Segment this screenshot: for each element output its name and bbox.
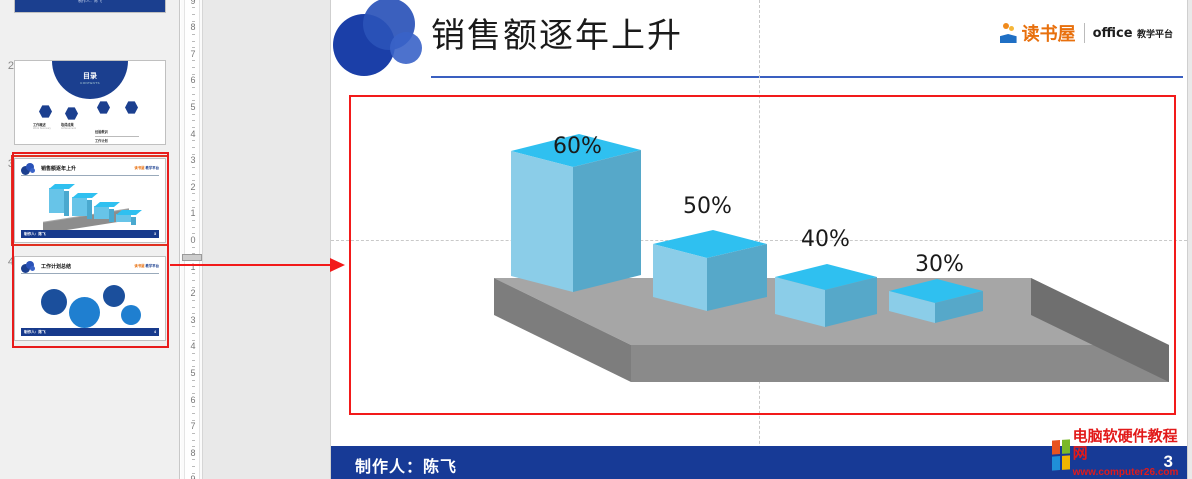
ruler-minor-tick bbox=[192, 220, 195, 221]
ruler-minor-tick bbox=[192, 200, 195, 201]
thumbnail-logo-tag: 教学平台 bbox=[145, 264, 159, 268]
thumbnail-slide-4-title: 工作计划总结 bbox=[41, 263, 71, 270]
ruler-tick-3: 3 bbox=[185, 155, 201, 165]
thumbnail-slide-2-subtitle: CONTENTS bbox=[15, 81, 165, 85]
ruler-tick-1: 1 bbox=[185, 208, 201, 218]
ruler-minor-tick bbox=[192, 60, 195, 61]
ruler-tick-5: 5 bbox=[185, 102, 201, 112]
mini-bar-4 bbox=[116, 214, 131, 222]
contents-rule-1 bbox=[95, 136, 139, 137]
ruler-tick-5: 5 bbox=[185, 368, 201, 378]
ruler-minor-tick bbox=[192, 466, 195, 467]
ruler-minor-tick bbox=[192, 7, 195, 8]
thumbnail-slide-1-canvas[interactable]: 四季度会议总结 制作人：陈飞 bbox=[14, 0, 166, 13]
slide-title[interactable]: 销售额逐年上升 bbox=[431, 8, 683, 57]
ruler-tick-9: 9 bbox=[185, 474, 201, 479]
watermark-site-name: 电脑软硬件教程网 bbox=[1073, 428, 1178, 462]
mini-bar-3 bbox=[94, 206, 109, 219]
ruler-minor-tick bbox=[192, 174, 195, 175]
thumbnail-slide-2[interactable]: 2 目录 CONTENTS 工作概述 Work Summary 取得成果 Ach… bbox=[14, 60, 166, 145]
gear-icon-4 bbox=[121, 305, 141, 325]
ruler-minor-tick bbox=[192, 386, 195, 387]
ruler-minor-tick bbox=[192, 300, 195, 301]
thumbnail-number-3: 3 bbox=[2, 158, 14, 170]
thumbnail-slide-4-footer: 4 制作人：陈飞 bbox=[21, 328, 159, 336]
brand-divider bbox=[1084, 23, 1085, 43]
contents-label-3: 经验教训 bbox=[95, 129, 108, 134]
ruler-minor-tick bbox=[192, 360, 195, 361]
title-circles-icon bbox=[21, 163, 37, 176]
ruler-tick-4: 4 bbox=[185, 341, 201, 351]
ruler-tick-0: 0 bbox=[185, 235, 201, 245]
ruler-minor-tick bbox=[192, 120, 195, 121]
brand-tagline: office 教学平台 bbox=[1093, 25, 1173, 42]
thumbnail-slide-4-logo: 读书屋 教学平台 bbox=[134, 263, 159, 268]
ruler-minor-tick bbox=[192, 433, 195, 434]
thumbnail-number-2: 2 bbox=[2, 60, 14, 72]
active-slide[interactable]: 销售额逐年上升 读书屋 office 教学平台 bbox=[331, 0, 1187, 479]
thumbnail-slide-4-canvas[interactable]: 工作计划总结 读书屋 教学平台 4 制作人：陈飞 bbox=[14, 256, 166, 341]
ruler-minor-tick bbox=[192, 459, 195, 460]
ruler-minor-tick bbox=[192, 326, 195, 327]
title-circles-icon bbox=[21, 261, 37, 274]
contents-label-4-text: 工作计划 bbox=[95, 139, 108, 143]
thumbnail-slide-3-canvas[interactable]: 销售额逐年上升 读书屋 教学平台 3 制作人：陈飞 bbox=[14, 158, 166, 243]
thumbnail-slide-4[interactable]: 4 工作计划总结 读书屋 教学平台 4 制作人：陈飞 bbox=[14, 256, 166, 341]
ruler-tick-4: 4 bbox=[185, 129, 201, 139]
thumbnail-slide-3-footer: 3 制作人：陈飞 bbox=[21, 230, 159, 238]
slide-canvas-area[interactable]: 销售额逐年上升 读书屋 office 教学平台 bbox=[203, 0, 1192, 479]
ruler-minor-tick bbox=[192, 380, 195, 381]
ruler-tick-2: 2 bbox=[185, 288, 201, 298]
thumbnail-slide-3-title: 销售额逐年上升 bbox=[41, 165, 76, 172]
brand-logo: 读书屋 office 教学平台 bbox=[1000, 20, 1173, 46]
mini-bar-1 bbox=[49, 188, 64, 213]
ruler-minor-tick bbox=[192, 353, 195, 354]
thumbnail-logo-name: 读书屋 bbox=[134, 166, 144, 170]
gear-icon-2 bbox=[69, 297, 100, 328]
thumbnail-logo-name: 读书屋 bbox=[134, 264, 144, 268]
contents-label-4: 工作计划 bbox=[95, 138, 108, 143]
ruler-tick-3: 3 bbox=[185, 315, 201, 325]
mini-bar-2 bbox=[72, 197, 87, 216]
ruler-minor-tick bbox=[192, 333, 195, 334]
ruler-minor-tick bbox=[192, 94, 195, 95]
ruler-minor-tick bbox=[192, 114, 195, 115]
thumbnail-slide-1[interactable]: 四季度会议总结 制作人：陈飞 bbox=[14, 0, 166, 13]
thumbnail-slide-3[interactable]: 3 销售额逐年上升 读书屋 教学平台 bbox=[14, 158, 166, 243]
ruler-minor-tick bbox=[192, 193, 195, 194]
ruler-tick-7: 7 bbox=[185, 49, 201, 59]
ruler-tick-8: 8 bbox=[185, 22, 201, 32]
ruler-track: 9876543210123456789 bbox=[184, 0, 200, 479]
thumbnail-slide-3-footer-text: 制作人：陈飞 bbox=[24, 232, 46, 236]
brand-tagline-top: office bbox=[1093, 26, 1133, 41]
ruler-tick-2: 2 bbox=[185, 182, 201, 192]
contents-label-3-text: 经验教训 bbox=[95, 130, 108, 134]
watermark-text: 电脑软硬件教程网 www.computer26.com bbox=[1073, 429, 1192, 479]
contents-hex-2 bbox=[65, 107, 78, 120]
content-placeholder-outline[interactable] bbox=[349, 95, 1176, 415]
ruler-tick-8: 8 bbox=[185, 448, 201, 458]
ruler-minor-tick bbox=[192, 227, 195, 228]
ruler-minor-tick bbox=[192, 14, 195, 15]
contents-label-1: 工作概述 Work Summary bbox=[33, 122, 51, 130]
site-watermark: 电脑软硬件教程网 www.computer26.com bbox=[1052, 433, 1192, 476]
ruler-minor-tick bbox=[192, 67, 195, 68]
contents-label-1-sub: Work Summary bbox=[33, 127, 51, 130]
windows-logo-icon bbox=[1052, 439, 1070, 470]
contents-hex-1 bbox=[39, 105, 52, 118]
ruler-minor-tick bbox=[192, 307, 195, 308]
ruler-tick-9: 9 bbox=[185, 0, 201, 6]
thumbnail-slide-3-logo: 读书屋 教学平台 bbox=[134, 165, 159, 170]
ruler-minor-tick bbox=[192, 440, 195, 441]
ruler-minor-tick bbox=[192, 87, 195, 88]
contents-label-2-sub: Achievement bbox=[61, 127, 76, 130]
ruler-minor-tick bbox=[192, 413, 195, 414]
ruler-tick-7: 7 bbox=[185, 421, 201, 431]
ruler-minor-tick bbox=[192, 167, 195, 168]
thumbnail-number-4: 4 bbox=[2, 256, 14, 268]
thumbnail-slide-1-subtitle: 制作人：陈飞 bbox=[15, 0, 165, 4]
ruler-minor-tick bbox=[192, 147, 195, 148]
thumbnail-slide-2-title: 目录 bbox=[15, 71, 165, 81]
ruler-minor-tick bbox=[192, 140, 195, 141]
thumbnail-slide-4-header: 工作计划总结 读书屋 教学平台 bbox=[21, 262, 159, 274]
thumbnail-slide-3-header: 销售额逐年上升 读书屋 教学平台 bbox=[21, 164, 159, 176]
thumbnail-mini-chart bbox=[39, 185, 145, 229]
title-decoration-circles-icon bbox=[333, 0, 438, 84]
brand-name: 读书屋 bbox=[1022, 20, 1076, 46]
contents-hex-4 bbox=[125, 101, 138, 114]
ruler-tick-6: 6 bbox=[185, 75, 201, 85]
watermark-url: www.computer26.com bbox=[1073, 467, 1179, 478]
contents-label-2: 取得成果 Achievement bbox=[61, 122, 76, 130]
thumbnail-slide-2-canvas[interactable]: 目录 CONTENTS 工作概述 Work Summary 取得成果 Achie… bbox=[14, 60, 166, 145]
ruler-minor-tick bbox=[192, 280, 195, 281]
ruler-tick-6: 6 bbox=[185, 395, 201, 405]
contents-hex-3 bbox=[97, 101, 110, 114]
slide-thumbnail-panel[interactable]: 四季度会议总结 制作人：陈飞 2 目录 CONTENTS 工作概述 Work S… bbox=[0, 0, 180, 479]
pointer-arrow-icon bbox=[170, 255, 345, 275]
title-underline bbox=[431, 76, 1183, 78]
ruler-minor-tick bbox=[192, 247, 195, 248]
thumbnail-slide-4-footer-text: 制作人：陈飞 bbox=[24, 330, 46, 334]
brand-tagline-bottom: 教学平台 bbox=[1137, 29, 1173, 39]
ruler-minor-tick bbox=[192, 41, 195, 42]
gear-icon-1 bbox=[41, 289, 67, 315]
thumbnail-logo-tag: 教学平台 bbox=[145, 166, 159, 170]
thumbnail-slide-4-page: 4 bbox=[154, 328, 159, 336]
footer-author-text: 制作人：陈飞 bbox=[355, 453, 457, 477]
thumbnail-slide-3-page: 3 bbox=[154, 230, 159, 238]
book-reader-icon bbox=[1000, 23, 1017, 43]
gear-icon-3 bbox=[103, 285, 125, 307]
vertical-ruler[interactable]: 9876543210123456789 bbox=[181, 0, 203, 479]
ruler-minor-tick bbox=[192, 406, 195, 407]
ruler-minor-tick bbox=[192, 34, 195, 35]
